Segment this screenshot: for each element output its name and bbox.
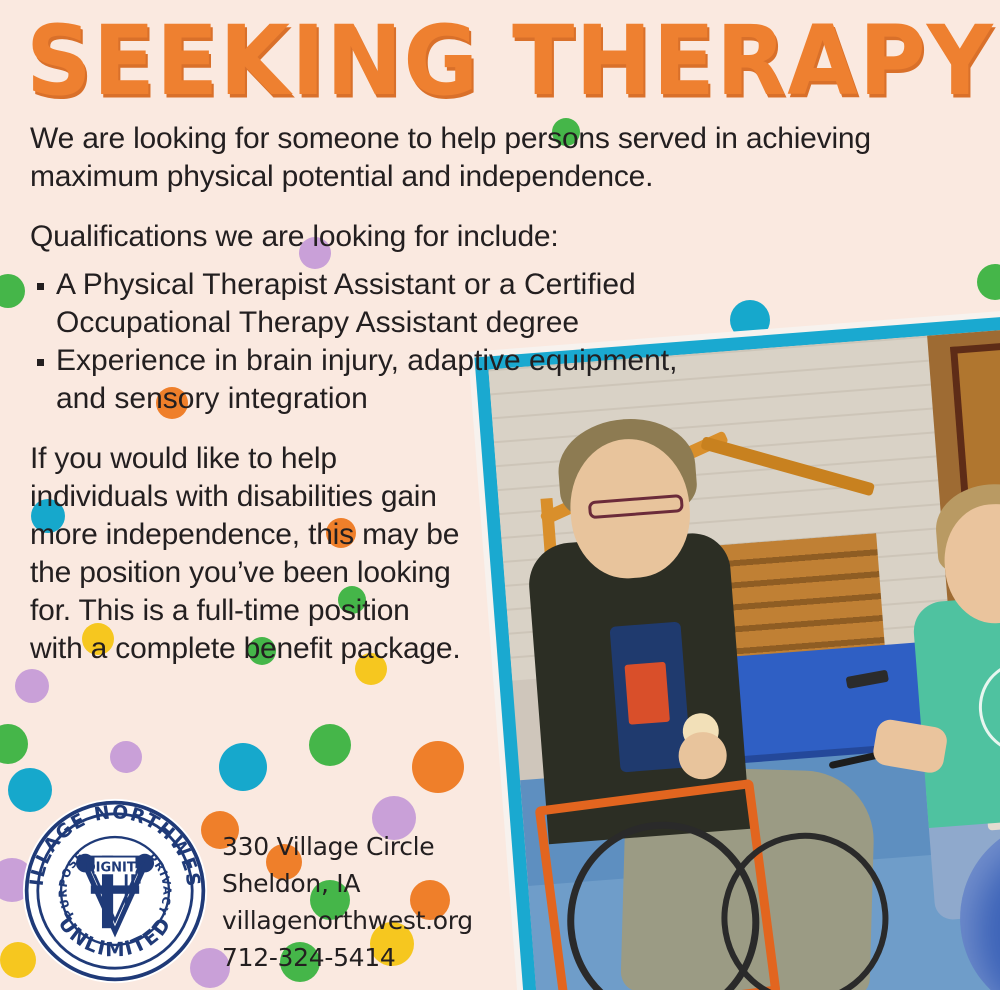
list-item: A Physical Therapist Assistant or a Cert… xyxy=(30,266,690,342)
confetti-dot xyxy=(412,741,464,793)
confetti-dot xyxy=(110,741,142,773)
confetti-dot xyxy=(0,274,25,308)
closing-paragraph: If you would like to help individuals wi… xyxy=(30,440,470,668)
confetti-dot xyxy=(309,724,351,766)
poster-copy: We are looking for someone to help perso… xyxy=(30,120,630,668)
confetti-dot xyxy=(219,743,267,791)
contact-address: 330 Village Circle xyxy=(222,828,492,865)
contact-website[interactable]: villagenorthwest.org xyxy=(222,902,492,939)
contact-city-state: Sheldon, IA xyxy=(222,865,492,902)
confetti-dot xyxy=(977,264,1000,300)
intro-paragraph: We are looking for someone to help perso… xyxy=(30,120,960,196)
logo-inner-top: DIGNITY xyxy=(85,860,146,875)
qualifications-list: A Physical Therapist Assistant or a Cert… xyxy=(30,266,690,418)
confetti-dot xyxy=(15,669,49,703)
contact-phone[interactable]: 712-324-5414 xyxy=(222,939,492,976)
qualifications-heading: Qualifications we are looking for includ… xyxy=(30,218,630,256)
client-shirt-graphic xyxy=(624,662,670,725)
logo-seal: VILLAGE NORTHWEST UNLIMITED DIGNITY PURP… xyxy=(22,798,208,984)
job-posting-poster: SEEKING THERAPY LEAD xyxy=(0,0,1000,990)
contact-block: 330 Village Circle Sheldon, IA villageno… xyxy=(222,828,492,976)
confetti-dot xyxy=(0,724,28,764)
page-title: SEEKING THERAPY LEAD xyxy=(26,10,1000,113)
list-item: Experience in brain injury, adaptive equ… xyxy=(30,342,690,418)
